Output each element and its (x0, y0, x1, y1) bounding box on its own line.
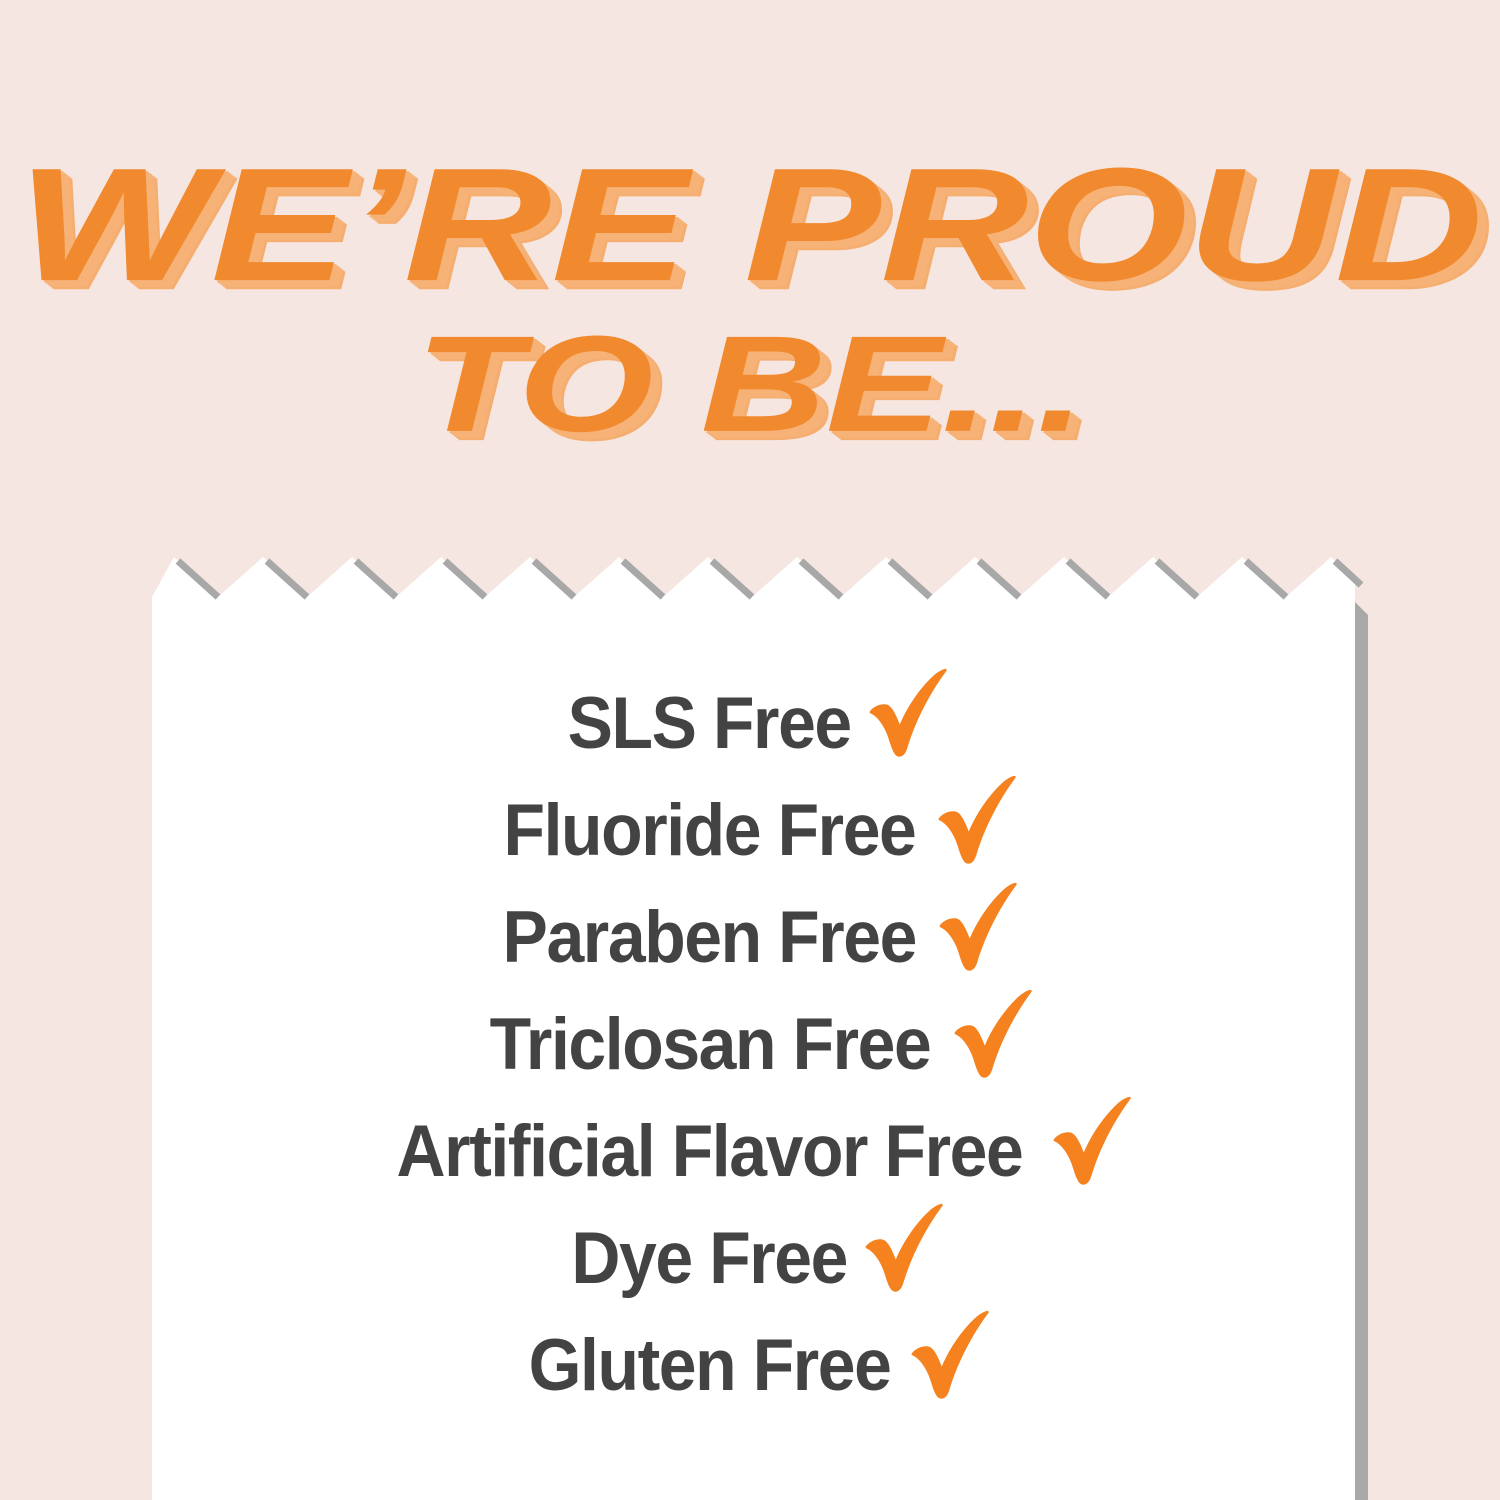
claim-label: Paraben Free (503, 901, 916, 974)
check-mark-icon (1048, 1096, 1134, 1192)
list-item: Fluoride Free (152, 775, 1355, 882)
check-mark-icon (949, 989, 1035, 1085)
headline-line-2: TO BE... (0, 309, 1500, 462)
list-item: SLS Free (152, 668, 1355, 775)
poster-canvas: WE’RE PROUD TO BE... (0, 0, 1500, 1500)
headline-line-1: WE’RE PROUD (0, 149, 1500, 302)
claim-label: Triclosan Free (489, 1008, 930, 1081)
check-mark-icon (933, 775, 1019, 871)
headline-block: WE’RE PROUD TO BE... (0, 150, 1500, 460)
check-mark-icon (864, 668, 950, 764)
claim-label: SLS Free (568, 687, 851, 760)
list-item: Dye Free (152, 1203, 1355, 1310)
claim-label: Gluten Free (529, 1329, 891, 1402)
check-mark-icon (906, 1310, 992, 1406)
claims-list: SLS Free Fluoride Free Paraben Free Tric… (152, 668, 1355, 1417)
paper-right-edge-shadow (1355, 602, 1368, 1500)
claim-label: Dye Free (572, 1222, 848, 1295)
claim-label: Artificial Flavor Free (397, 1115, 1023, 1188)
check-mark-icon (860, 1203, 946, 1299)
list-item: Gluten Free (152, 1310, 1355, 1417)
claim-label: Fluoride Free (504, 794, 916, 867)
list-item: Triclosan Free (152, 989, 1355, 1096)
list-item: Artificial Flavor Free (152, 1096, 1355, 1203)
list-item: Paraben Free (152, 882, 1355, 989)
check-mark-icon (934, 882, 1020, 978)
